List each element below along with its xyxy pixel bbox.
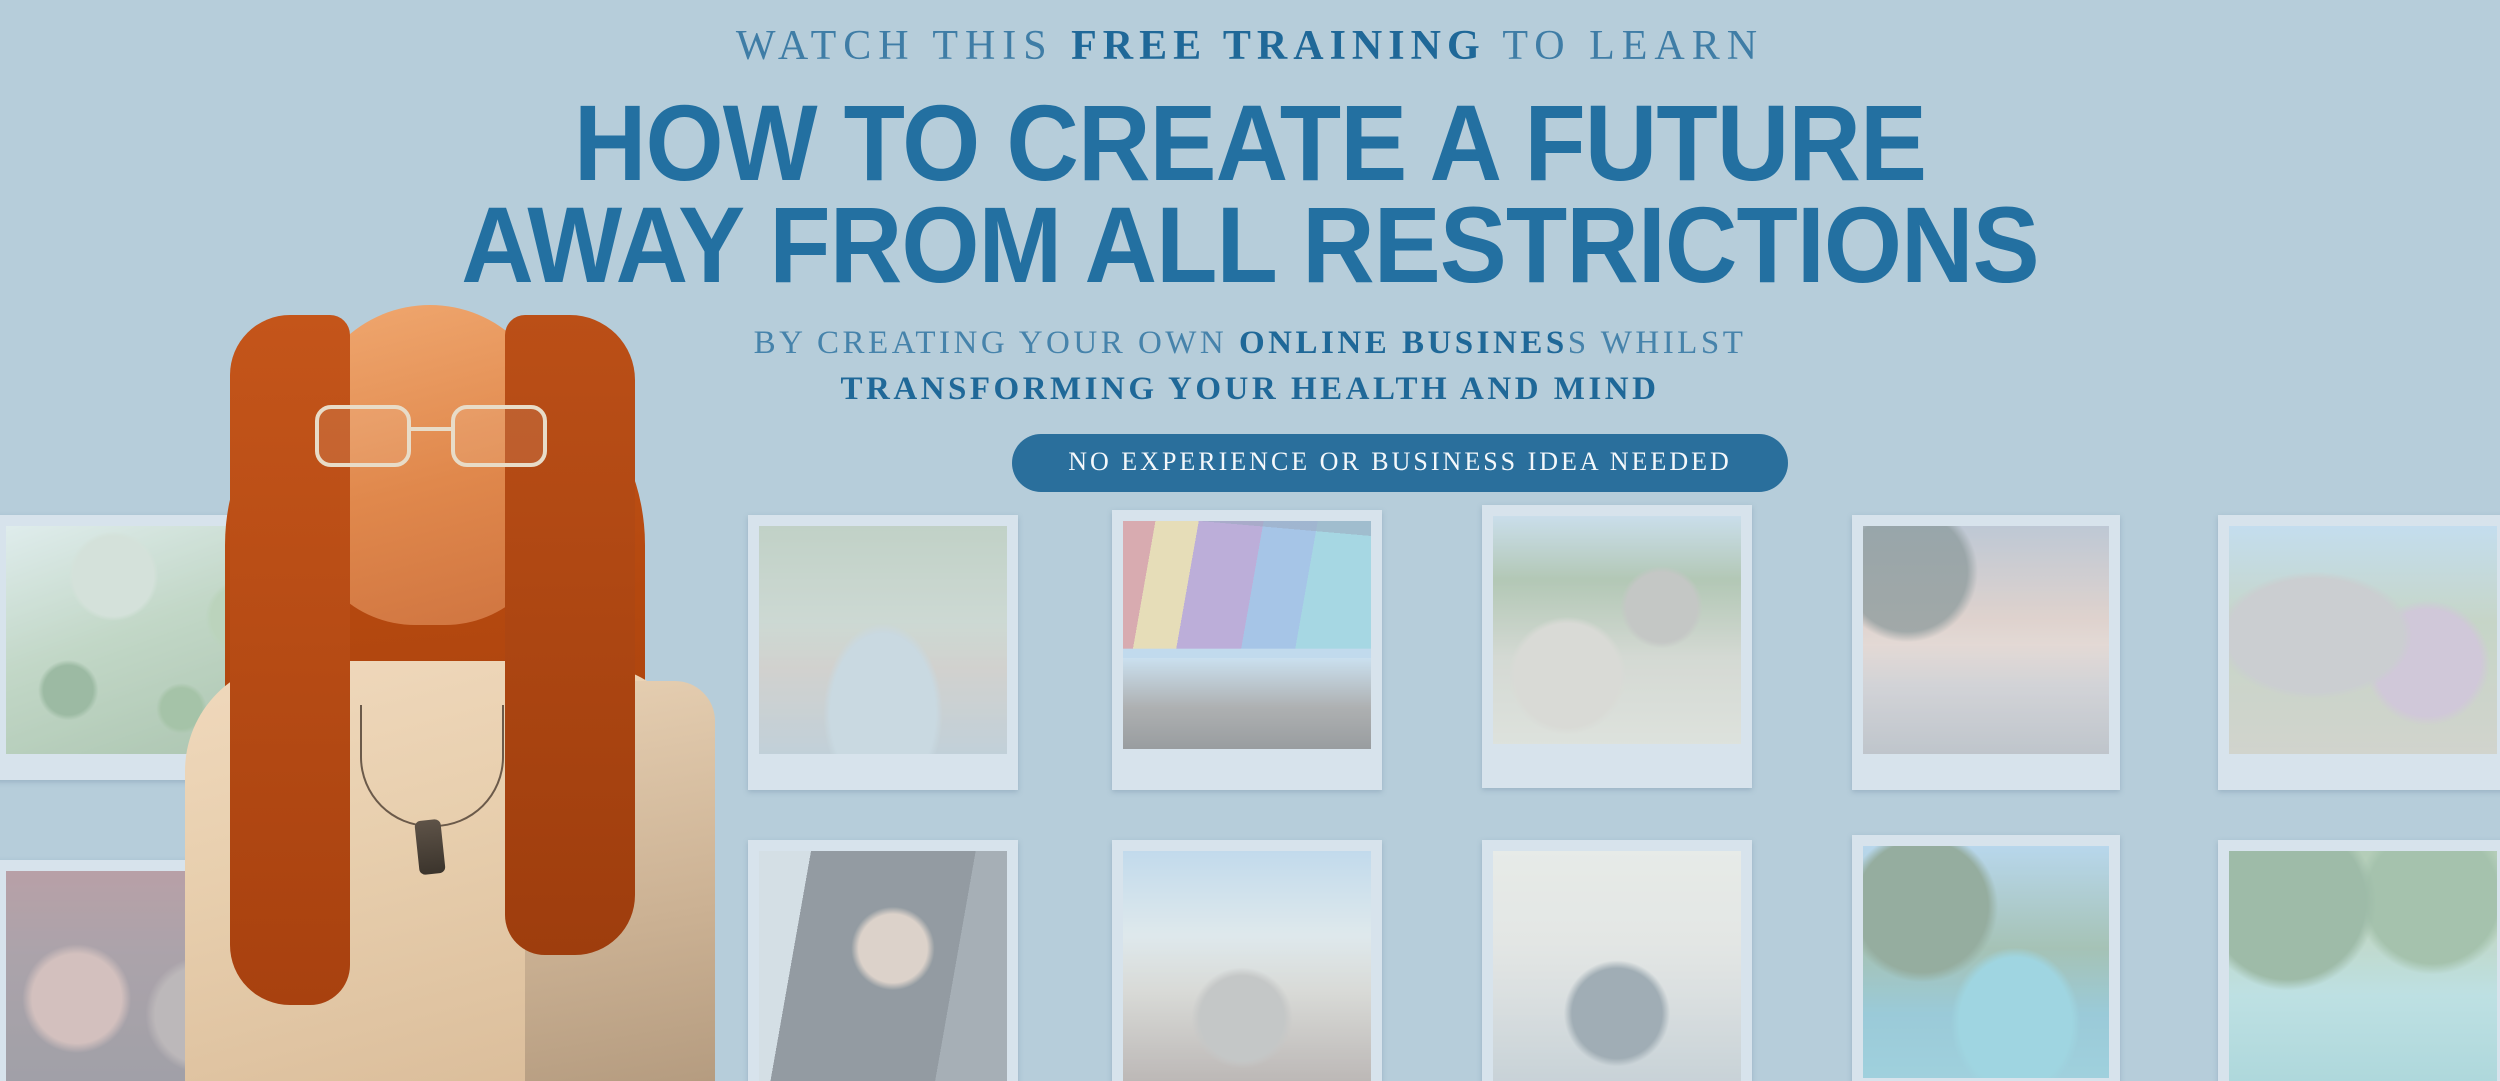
- hero-subline-emphasis: ONLINE BUSINES: [1239, 325, 1568, 361]
- polaroid-image: [6, 526, 289, 754]
- polaroid-photo-rainbow[interactable]: [1112, 510, 1382, 790]
- polaroid-photo-bay[interactable]: [1852, 835, 2120, 1081]
- hero-eyebrow-emphasis: FREE TRAINING: [1071, 23, 1485, 69]
- polaroid-photo-temple[interactable]: [290, 515, 560, 790]
- polaroid-photo-elephant[interactable]: [2218, 515, 2500, 790]
- polaroid-photo-sunset[interactable]: [1852, 515, 2120, 790]
- polaroid-image: [1493, 851, 1741, 1081]
- polaroid-image: [759, 526, 1007, 754]
- polaroid-photo-hottub[interactable]: [748, 515, 1018, 790]
- polaroid-photo-party[interactable]: [0, 860, 300, 1081]
- photo-wall: [0, 505, 2500, 1081]
- polaroid-image: [2229, 851, 2497, 1081]
- polaroid-image: [1123, 521, 1371, 749]
- hero-copy: WATCH THIS FREE TRAINING TO LEARN HOW TO…: [0, 0, 2500, 492]
- polaroid-image: [759, 851, 1007, 1081]
- badge-row: NO EXPERIENCE OR BUSINESS IDEA NEEDED: [0, 434, 2500, 492]
- landing-hero: WATCH THIS FREE TRAINING TO LEARN HOW TO…: [0, 0, 2500, 1081]
- polaroid-image: [1863, 526, 2109, 754]
- hero-eyebrow-before: WATCH THIS: [736, 23, 1071, 69]
- hero-subline-secondary: TRANSFORMING YOUR HEALTH AND MIND: [0, 371, 2500, 408]
- polaroid-photo-beachboat[interactable]: [1112, 840, 1382, 1081]
- hero-subline-after: S WHILST: [1568, 325, 1747, 361]
- polaroid-photo-girls[interactable]: [1482, 840, 1752, 1081]
- polaroid-photo-portrait[interactable]: [748, 840, 1018, 1081]
- page-title: HOW TO CREATE A FUTURE AWAY FROM ALL RES…: [88, 92, 2413, 295]
- polaroid-image: [301, 526, 549, 754]
- polaroid-image: [2229, 526, 2497, 754]
- hero-subline-before: BY CREATING YOUR OWN: [754, 325, 1239, 361]
- polaroid-image: [1493, 516, 1741, 744]
- status-badge[interactable]: NO EXPERIENCE OR BUSINESS IDEA NEEDED: [1012, 434, 1788, 492]
- polaroid-photo-plants[interactable]: [0, 515, 300, 780]
- headline-line-2: AWAY FROM ALL RESTRICTIONS: [88, 194, 2413, 296]
- hero-eyebrow-after: TO LEARN: [1486, 23, 1764, 69]
- hero-subline: BY CREATING YOUR OWN ONLINE BUSINESS WHI…: [0, 325, 2500, 362]
- polaroid-photo-friends[interactable]: [1482, 505, 1752, 788]
- polaroid-image: [1863, 846, 2109, 1078]
- polaroid-photo-pool[interactable]: [2218, 840, 2500, 1081]
- polaroid-image: [6, 871, 289, 1081]
- polaroid-image: [1123, 851, 1371, 1081]
- hero-eyebrow: WATCH THIS FREE TRAINING TO LEARN: [0, 22, 2500, 70]
